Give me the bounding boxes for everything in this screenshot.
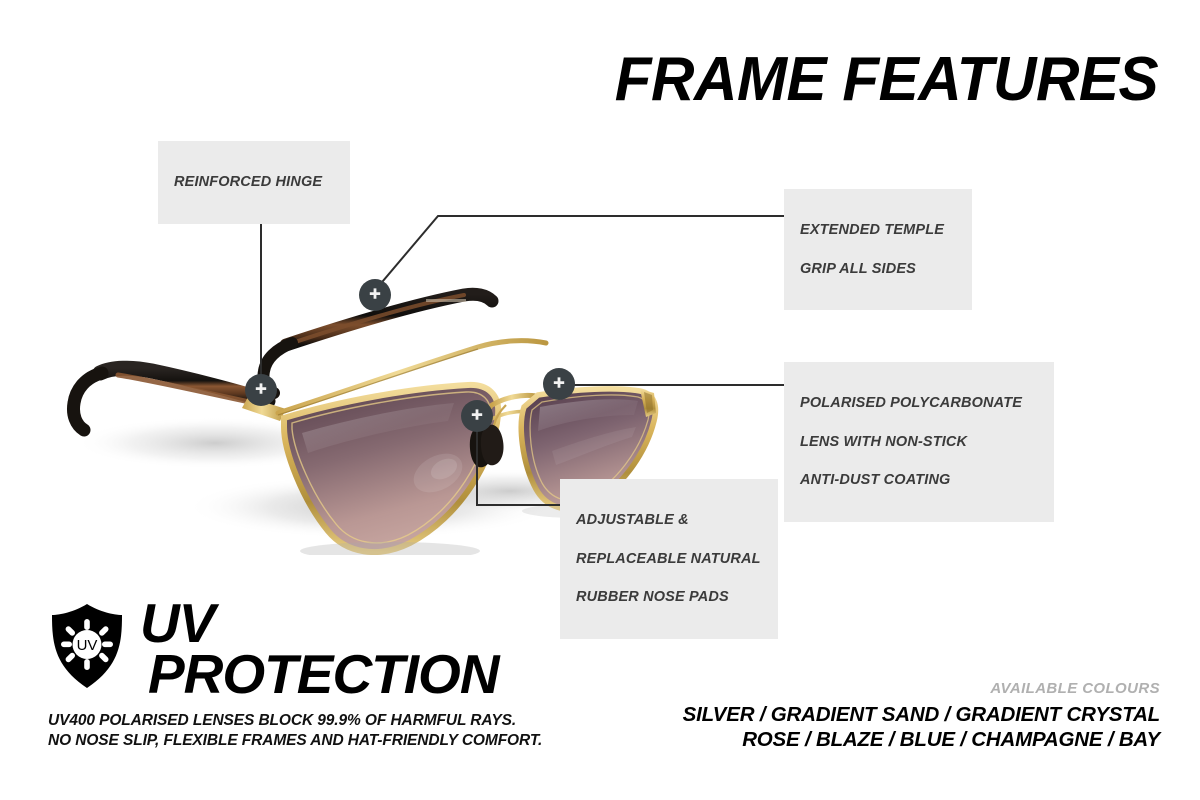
callout-line: ADJUSTABLE & [576,511,762,530]
callout-line: REINFORCED HINGE [174,173,334,192]
feature-marker-lens[interactable] [543,368,575,400]
plus-icon [253,382,269,398]
uv-badge-text: UV [77,637,98,654]
colours-line: ROSE / BLAZE / BLUE / CHAMPAGNE / BAY [683,727,1160,752]
available-colours-list: SILVER / GRADIENT SAND / GRADIENT CRYSTA… [683,702,1160,752]
plus-icon [469,408,485,424]
uv-heading-row: UV UV PROTECTION [48,598,568,699]
infographic-canvas: FRAME FEATURES [0,0,1200,800]
page-title: FRAME FEATURES [615,44,1158,115]
uv-shield-icon: UV [48,602,126,695]
uv-protection-block: UV UV PROTECTION UV400 POLARISED LENSES … [48,598,568,750]
uv-subtext-line: NO NOSE SLIP, FLEXIBLE FRAMES AND HAT-FR… [48,731,568,751]
callout-line: REPLACEABLE NATURAL [576,550,762,569]
feature-marker-temple[interactable] [359,279,391,311]
uv-subtext-line: UV400 POLARISED LENSES BLOCK 99.9% OF HA… [48,711,568,731]
feature-marker-hinge[interactable] [245,374,277,406]
callout-polarised-lens: POLARISED POLYCARBONATE LENS WITH NON-ST… [784,362,1054,522]
feature-marker-nosepads[interactable] [461,400,493,432]
uv-heading-line1: UV [140,598,499,649]
callout-line: POLARISED POLYCARBONATE [800,394,1038,413]
callout-line: RUBBER NOSE PADS [576,588,762,607]
uv-subtext: UV400 POLARISED LENSES BLOCK 99.9% OF HA… [48,711,568,750]
available-colours-title: AVAILABLE COLOURS [683,680,1160,697]
callout-line: ANTI-DUST COATING [800,471,1038,490]
plus-icon [367,287,383,303]
plus-icon [551,376,567,392]
uv-heading: UV PROTECTION [140,598,499,699]
callout-extended-temple-grip: EXTENDED TEMPLE GRIP ALL SIDES [784,189,972,310]
callout-line: GRIP ALL SIDES [800,260,956,279]
colours-line: SILVER / GRADIENT SAND / GRADIENT CRYSTA… [683,702,1160,727]
uv-heading-line2: PROTECTION [148,649,499,700]
callout-reinforced-hinge: REINFORCED HINGE [158,141,350,224]
callout-rubber-nose-pads: ADJUSTABLE & REPLACEABLE NATURAL RUBBER … [560,479,778,639]
callout-line: LENS WITH NON-STICK [800,433,1038,452]
available-colours-block: AVAILABLE COLOURS SILVER / GRADIENT SAND… [683,680,1160,752]
callout-line: EXTENDED TEMPLE [800,221,956,240]
